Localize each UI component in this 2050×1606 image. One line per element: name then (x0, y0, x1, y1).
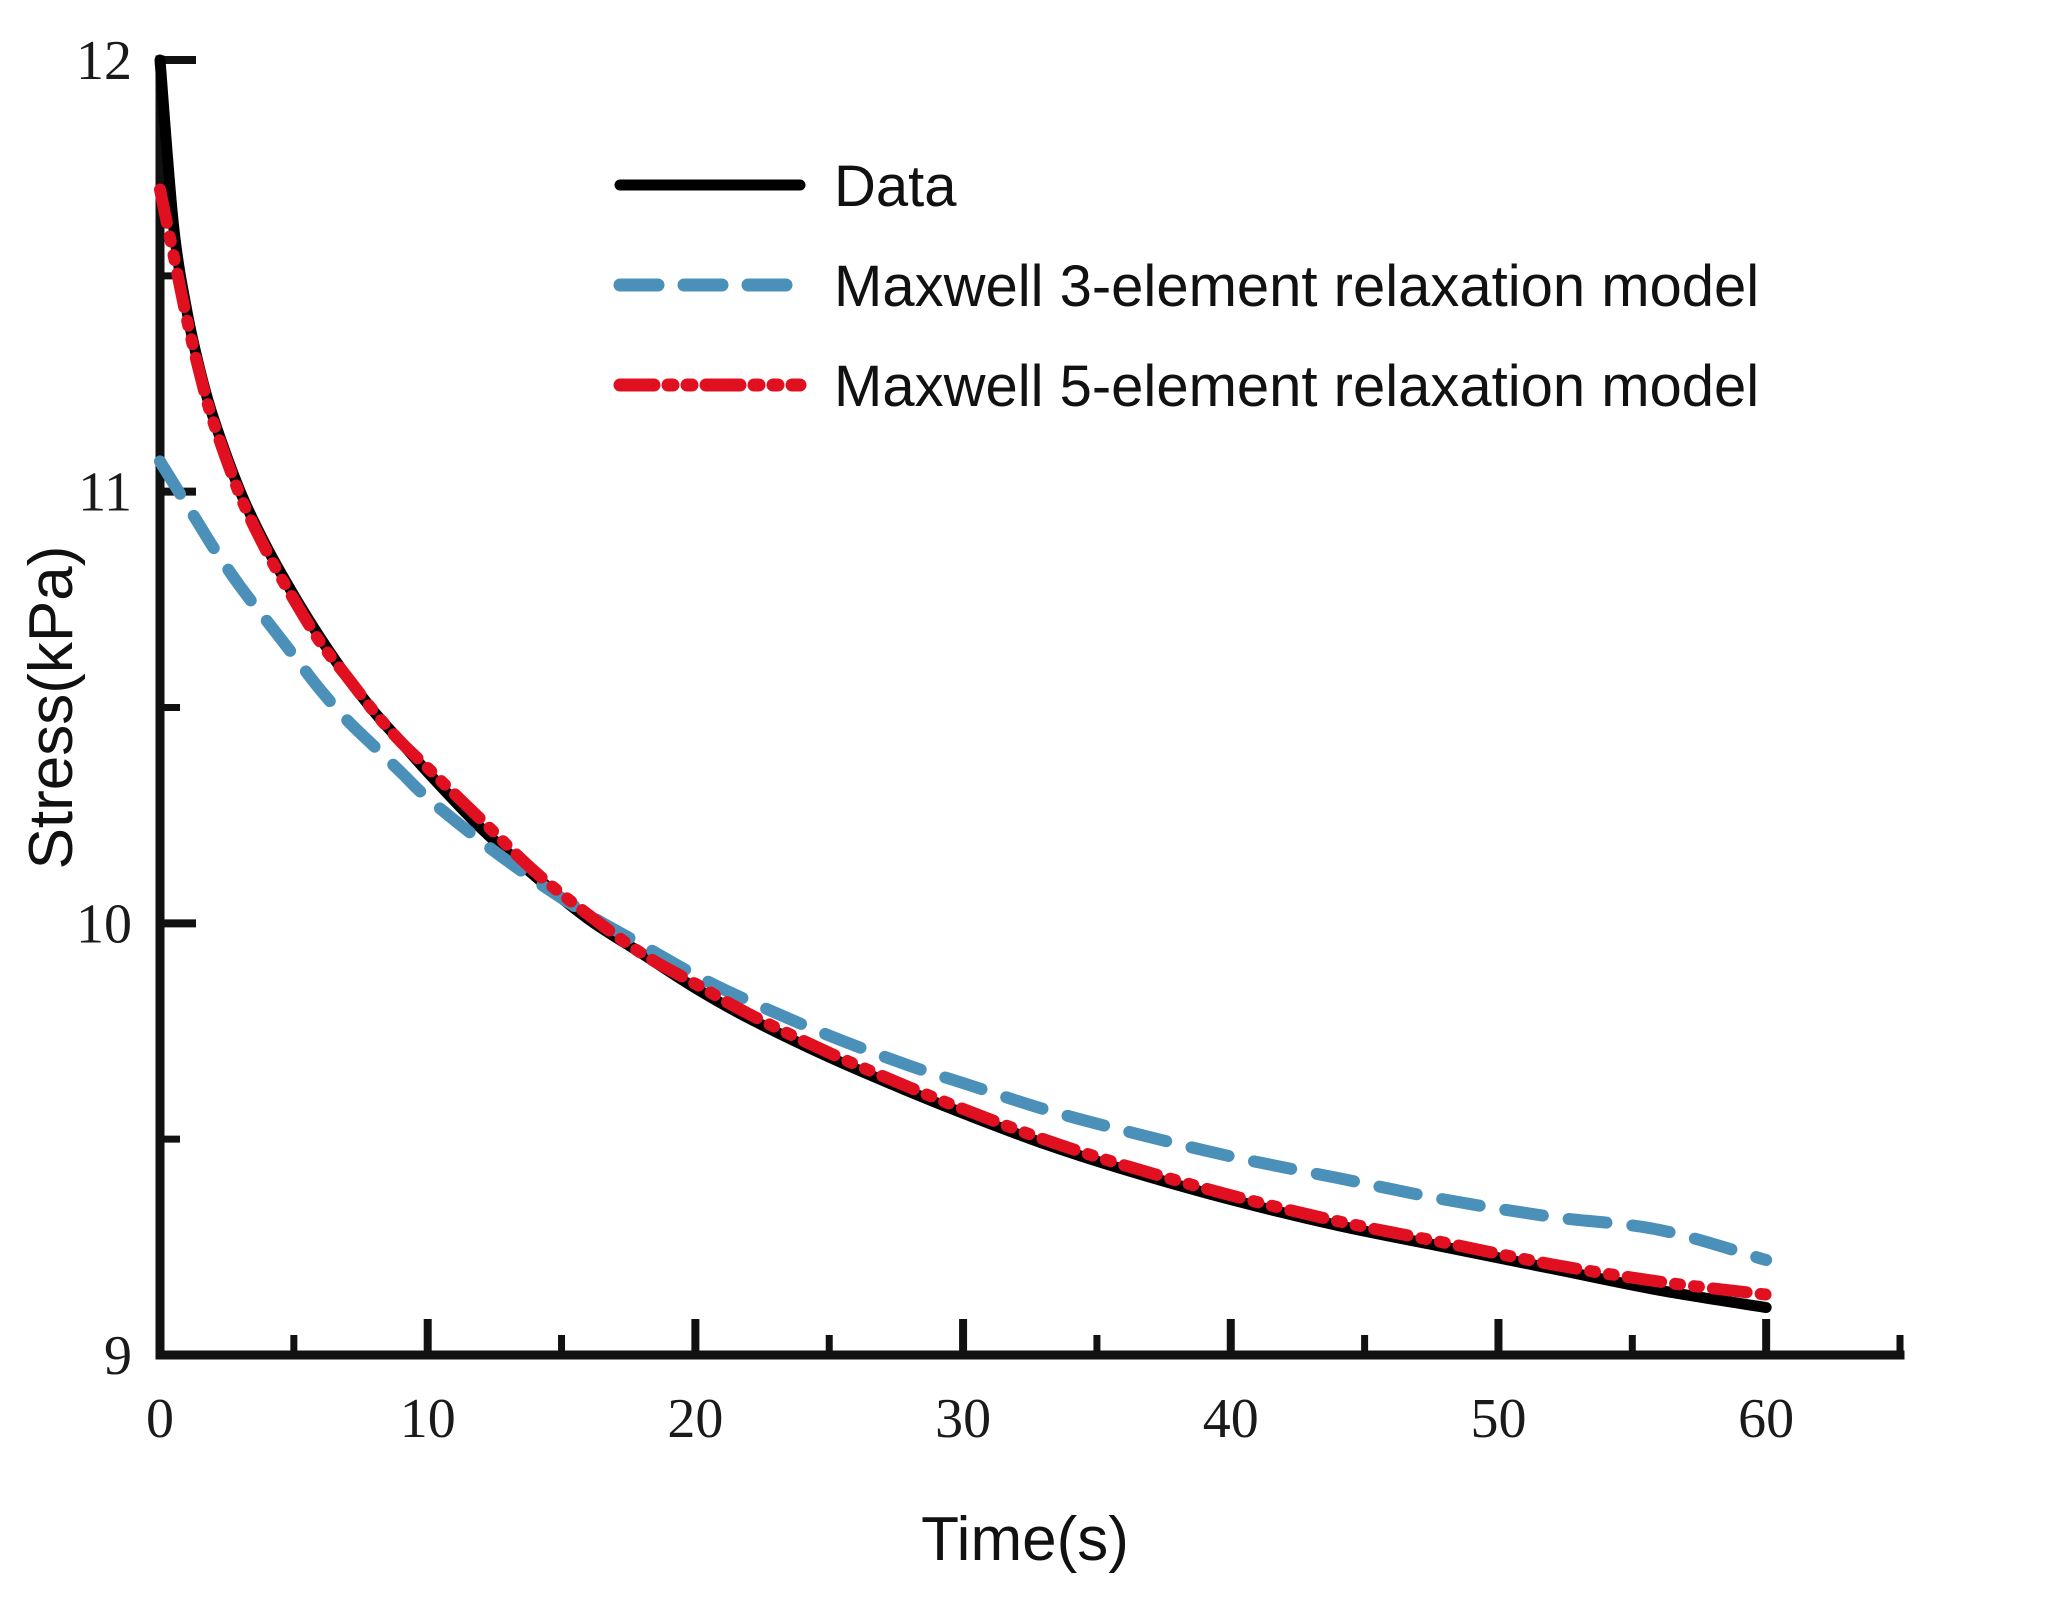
legend-label-data-line: Data (834, 154, 957, 219)
x-tick-label: 0 (146, 1388, 174, 1450)
y-tick-label: 12 (76, 30, 132, 92)
y-tick-label: 9 (104, 1325, 132, 1387)
legend-label-maxwell3-line: Maxwell 3-element relaxation model (834, 254, 1759, 319)
legend-label-maxwell5-line: Maxwell 5-element relaxation model (834, 354, 1759, 419)
x-tick-label: 50 (1470, 1388, 1526, 1450)
relaxation-chart-figure: 9101112 0102030405060 DataMaxwell 3-elem… (0, 0, 2050, 1606)
x-tick-label: 30 (935, 1388, 991, 1450)
y-axis-title: Stress(kPa) (17, 546, 86, 870)
x-tick-label: 60 (1738, 1388, 1794, 1450)
figure-background (0, 0, 2050, 1606)
chart-canvas: 9101112 0102030405060 DataMaxwell 3-elem… (0, 0, 2050, 1606)
x-tick-label: 40 (1203, 1388, 1259, 1450)
y-tick-label: 10 (76, 893, 132, 955)
x-axis-title: Time(s) (921, 1505, 1129, 1574)
x-tick-label: 20 (667, 1388, 723, 1450)
x-tick-label: 10 (400, 1388, 456, 1450)
y-tick-label: 11 (78, 462, 132, 524)
